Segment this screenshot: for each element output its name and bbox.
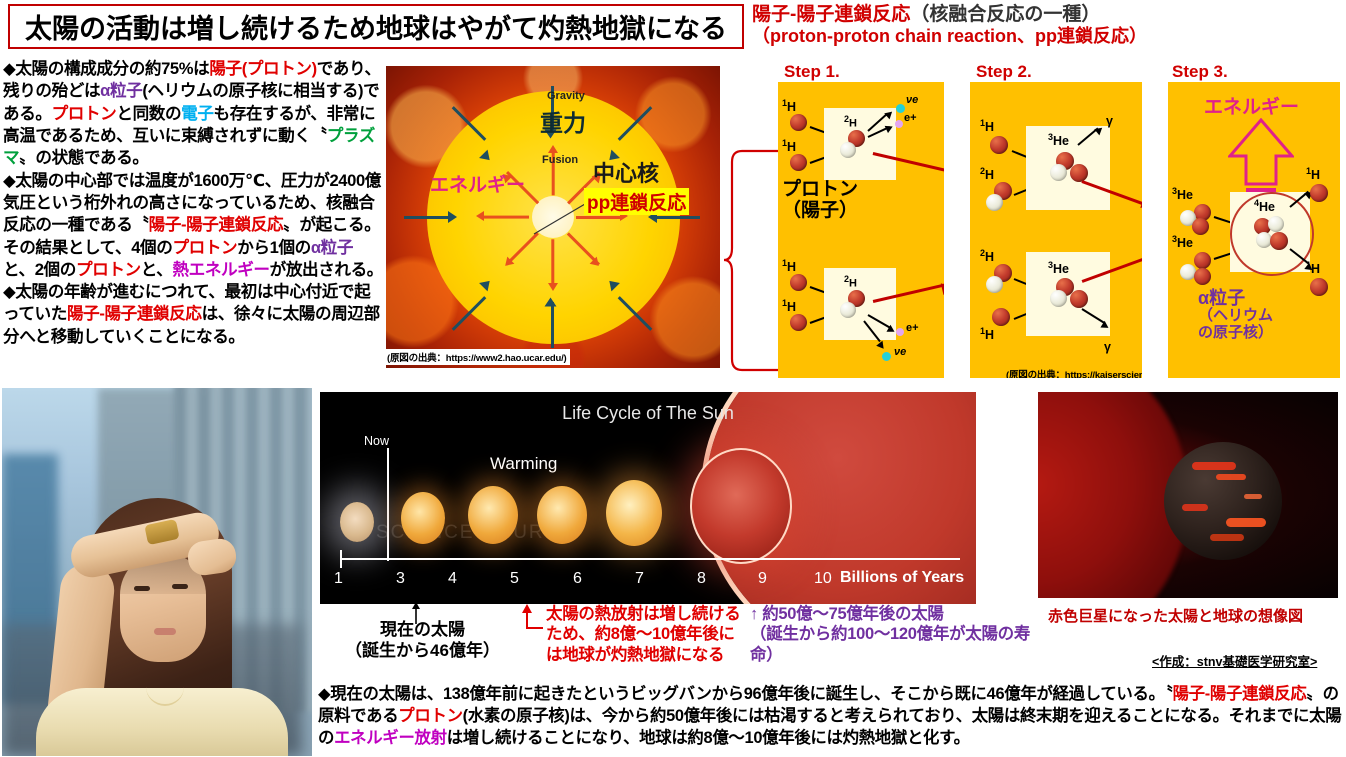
fusion-label-en: Fusion [542, 154, 578, 166]
neutrino-label-1a: νe [906, 94, 918, 106]
purple-caption-l2: （誕生から約100～120億年が太陽の寿命） [750, 624, 1050, 665]
left-description: ◆太陽の構成成分の約75%は陽子(プロトン)であり、残りの殆どはα粒子(ヘリウム… [3, 58, 383, 348]
tick-label-7: 7 [635, 570, 644, 588]
step2-he3-label-b: 3He [1048, 260, 1069, 276]
purple-caption-l1: ↑ 約50億～75億年後の太陽 [750, 604, 1050, 624]
tick-label-4: 4 [448, 570, 457, 588]
tick-label-9: 9 [758, 570, 767, 588]
now-marker-label: Now [364, 434, 389, 448]
he3-p1-3b [1194, 252, 1211, 269]
step1-h2-label-a: 2H [844, 114, 857, 130]
positron-label-1b: e+ [906, 322, 919, 334]
step1-panel: 1H 1H 2H νe e+ プロトン（陽子） 1H 1H [778, 82, 944, 378]
bottom-description: ◆現在の太陽は、138億年前に起きたというビッグバンから96億年後に誕生し、そこ… [318, 684, 1344, 750]
tick-label-6: 6 [573, 570, 582, 588]
tick-label-1: 1 [334, 570, 343, 588]
proton-1b [790, 154, 807, 171]
step2-panel: 1H 2H 3He γ 2H 1H 3He [970, 82, 1142, 378]
life-cycle-chart: Life Cycle of The Sun Now Warming SCIENC… [320, 392, 976, 604]
core-label-jp: 中心核 [593, 156, 659, 188]
he3-n-2a [1050, 164, 1067, 181]
left-paragraph-2: ◆太陽の中心部では温度が1600万℃、圧力が2400億気圧という桁外れの高さにな… [3, 170, 383, 282]
sun-structure-diagram: Gravity 重力 Fusion エネルギー 中心核 pp連鎖反応 (原図の出… [386, 66, 720, 368]
neutrino-label-1b: νe [894, 346, 906, 358]
credit-label: <作成：stnv基礎医学研究室> [1152, 651, 1317, 670]
page-title: 太陽の活動は増し続けるため地球はやがて灼熱地獄になる [25, 7, 727, 46]
step2-h1-label-a: 1H [980, 118, 994, 134]
he3-p2-2a [1070, 164, 1088, 182]
step2-h2-label-a: 2H [980, 166, 994, 182]
warming-label: Warming [490, 454, 557, 474]
proton-out-3b [1310, 278, 1328, 296]
gravity-label-en: Gravity [547, 90, 585, 102]
sun-stage-red-giant [690, 448, 792, 564]
planet-photo-caption: 赤色巨星になった太陽と地球の想像図 [1048, 605, 1303, 626]
current-sun-caption-l2: （誕生から46億年） [330, 641, 515, 662]
positron-1b [896, 328, 904, 336]
red-caption-hook-arrow [521, 604, 545, 630]
step2-h1-label-b: 1H [980, 326, 994, 342]
step2-label: Step 2. [976, 62, 1032, 82]
he3-n-2b [1050, 290, 1067, 307]
current-sun-caption-l1: 現在の太陽 [330, 620, 515, 641]
he3-p2-3b [1194, 268, 1211, 285]
step3-h1-label-a: 1H [1306, 166, 1320, 182]
photo-woman-shielding-eyes [2, 388, 312, 756]
step3-he3-label-b: 3He [1172, 234, 1193, 250]
pp-heading-sub: （核融合反応の一種） [910, 4, 1100, 25]
pp-heading-line1: 陽子-陽子連鎖反応（核融合反応の一種） [752, 4, 1342, 26]
sun-diagram-source: (原図の出典：https://www2.hao.ucar.edu/) [386, 349, 570, 365]
scorched-earth [1164, 442, 1282, 560]
step1-h1-label-c: 1H [782, 258, 796, 274]
step2-he3-label-a: 3He [1048, 132, 1069, 148]
pp-chain-heading: 陽子-陽子連鎖反応（核融合反応の一種） （proton-proton chain… [752, 4, 1342, 47]
he3-p2-2b [1070, 290, 1088, 308]
proton-2a [990, 136, 1008, 154]
red-warning-caption: 太陽の熱放射は増し続けるため、約8億～10億年後には地球が灼熱地獄になる [546, 604, 741, 665]
pp-heading-main: 陽子-陽子連鎖反応 [752, 4, 910, 25]
energy-arrow-icon [1228, 118, 1294, 200]
tick-label-5: 5 [510, 570, 519, 588]
step3-panel: エネルギー 3He 3He 4He 1H 1H [1168, 82, 1340, 378]
he4-n1 [1268, 216, 1284, 232]
left-paragraph-3: ◆太陽の年齢が進むにつれて、最初は中心付近で起っていた陽子-陽子連鎖反応は、徐々… [3, 281, 383, 348]
sun-stage-5 [468, 486, 518, 544]
photo-red-giant-earth [1038, 392, 1338, 598]
step3-he3-label-a: 3He [1172, 186, 1193, 202]
positron-label-1a: e+ [904, 112, 917, 124]
chart-axis-origin-tick [340, 550, 342, 568]
chart-axis [340, 558, 960, 560]
proton-1a [790, 114, 807, 131]
pp-chain-callout: pp連鎖反応 [584, 188, 689, 215]
purple-lifespan-caption: ↑ 約50億～75億年後の太陽 （誕生から約100～120億年が太陽の寿命） [750, 604, 1050, 665]
pp-heading-line2: （proton-proton chain reaction、pp連鎖反応） [752, 26, 1342, 47]
tick-label-3: 3 [396, 570, 405, 588]
positron-1a [895, 120, 903, 128]
gamma-label-2a: γ [1106, 114, 1113, 128]
steps-source: (原図の出典：https://kaiserscience.wordpress.c… [1006, 367, 1142, 378]
proton-1c [790, 274, 807, 291]
step1-label: Step 1. [784, 62, 840, 82]
chart-xlabel: Billions of Years [840, 569, 964, 587]
step3-he4-label: 4He [1254, 198, 1275, 214]
infographic-root: 太陽の活動は増し続けるため地球はやがて灼熱地獄になる 陽子-陽子連鎖反応（核融合… [0, 0, 1346, 757]
now-marker-line [387, 448, 389, 561]
deuteron-n-2a [986, 194, 1003, 211]
neutrino-1b [882, 352, 891, 361]
sun-stage-3 [401, 492, 445, 544]
sun-stage-6 [537, 486, 587, 544]
gamma-label-2b: γ [1104, 340, 1111, 354]
page-title-box: 太陽の活動は増し続けるため地球はやがて灼熱地獄になる [8, 4, 744, 49]
he4-p2 [1270, 232, 1288, 250]
he3-p2-3a [1192, 218, 1209, 235]
tick-label-10: 10 [814, 570, 832, 588]
proton-1d [790, 314, 807, 331]
deuteron-n-1a [840, 142, 856, 158]
gravity-label-jp: 重力 [540, 104, 586, 138]
step3-label: Step 3. [1172, 62, 1228, 82]
pp-connector-bracket [722, 148, 782, 373]
life-cycle-title: Life Cycle of The Sun [320, 403, 976, 424]
step1-h1-label-a: 1H [782, 98, 796, 114]
sun-stage-1 [340, 502, 374, 542]
left-paragraph-1: ◆太陽の構成成分の約75%は陽子(プロトン)であり、残りの殆どはα粒子(ヘリウム… [3, 58, 383, 170]
sun-stage-8 [606, 480, 662, 546]
deuteron-n-2b [986, 276, 1003, 293]
step1-h2-label-b: 2H [844, 274, 857, 290]
proton-2b [992, 308, 1010, 326]
proton-label-jp: プロトン（陽子） [782, 180, 858, 222]
step3-h1-label-b: 1H [1306, 260, 1320, 276]
step1-h1-label-d: 1H [782, 298, 796, 314]
step1-h1-label-b: 1H [782, 138, 796, 154]
deuteron-n-1b [840, 302, 856, 318]
tick-label-8: 8 [697, 570, 706, 588]
proton-out-3a [1310, 184, 1328, 202]
energy-label-step3: エネルギー [1204, 92, 1299, 119]
energy-label-jp: エネルギー [430, 170, 525, 197]
current-sun-caption: 現在の太陽 （誕生から46億年） [330, 620, 515, 661]
step2-h2-label-b: 2H [980, 248, 994, 264]
alpha-particle-label: α粒子 （ヘリウム の原子核） [1198, 288, 1273, 342]
